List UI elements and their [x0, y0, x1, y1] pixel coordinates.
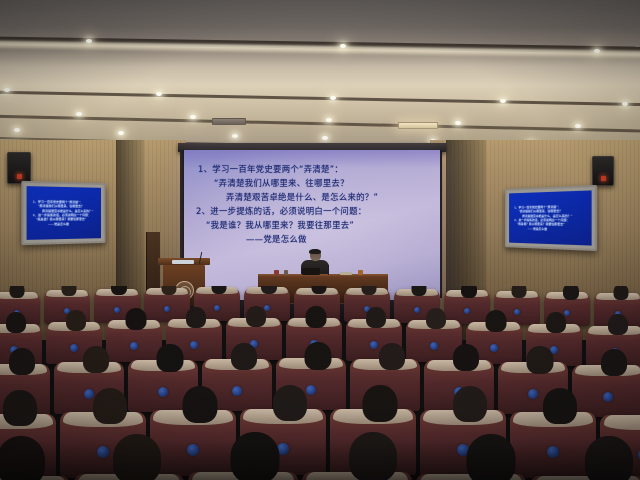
audience-member — [300, 342, 336, 382]
audience-member — [122, 308, 150, 338]
seat-emblem — [232, 386, 242, 396]
slide-line: “我是谁？我从哪里来？我要往那里去” — [184, 219, 440, 232]
audience-member — [536, 388, 584, 442]
ceiling — [0, 0, 640, 152]
audience-member — [62, 310, 90, 340]
seat-emblem — [70, 344, 78, 352]
seat-emblem — [490, 344, 498, 352]
ceiling-spotlight — [156, 92, 162, 96]
person-head — [3, 390, 37, 426]
speaker-led-indicator — [601, 176, 606, 181]
slide-line: 弄清楚艰苦卓绝是什么、是怎么来的？” — [184, 191, 440, 204]
slide-line: 2、进一步提炼的话，必须说明白一个问题： — [184, 205, 440, 218]
person-head — [6, 312, 26, 333]
ceiling-spotlight — [330, 96, 336, 100]
person-head — [601, 349, 627, 376]
person-head — [231, 432, 280, 480]
person-head — [66, 310, 86, 331]
seat-emblem — [187, 444, 199, 456]
ceiling-spotlight — [14, 128, 20, 132]
audience-member — [422, 308, 450, 338]
ceiling-spotlight — [232, 134, 238, 138]
person-head — [426, 308, 446, 329]
ceiling-spotlight — [322, 136, 328, 140]
person-head — [512, 286, 527, 298]
person-head — [231, 343, 257, 370]
seat-emblem — [430, 342, 438, 350]
audience-member — [266, 385, 314, 439]
audience-seating — [0, 286, 640, 480]
audience-member — [596, 349, 632, 389]
person-head — [186, 307, 206, 328]
audience-member — [208, 286, 230, 300]
ceiling-spotlight — [4, 88, 10, 92]
right-confidence-monitor[interactable]: 1、学习一百年党史要两个“弄清楚”： “弄清楚我们从哪里来、往哪里去？ 弄清楚艰… — [505, 185, 597, 251]
left-confidence-monitor[interactable]: 1、学习一百年党史要两个“弄清楚”： “弄清楚我们从哪里来、往哪里去？ 弄清楚艰… — [21, 181, 105, 245]
slide-content: 1、学习一百年党史要两个“弄清楚”： “弄清楚我们从哪里来、往哪里去？ 弄清楚艰… — [184, 163, 440, 246]
audience-member — [58, 286, 80, 302]
person-head — [363, 385, 398, 422]
person-head — [362, 286, 377, 295]
table-document — [340, 272, 352, 275]
audience-member — [508, 286, 530, 304]
audience-member — [340, 432, 406, 480]
audience-member — [356, 385, 404, 439]
ceiling-spotlight — [500, 99, 506, 103]
person-head — [379, 343, 405, 370]
speaker-led-indicator — [17, 174, 22, 179]
person-head — [546, 312, 566, 333]
audience-member — [358, 286, 380, 301]
audience-member — [104, 434, 170, 480]
person-head — [486, 310, 507, 332]
seat-emblem — [464, 308, 470, 314]
audience-member — [222, 432, 288, 480]
seat-emblem — [414, 307, 420, 313]
ceiling-spotlight — [190, 115, 196, 119]
left-monitor-screen: 1、学习一百年党史要两个“弄清楚”： “弄清楚我们从哪里来、往哪里去？ 弄清楚艰… — [27, 186, 101, 240]
person-head — [126, 308, 147, 330]
audience-member — [604, 314, 632, 344]
audience-member — [78, 346, 114, 386]
ceiling-spotlight — [594, 49, 600, 53]
ceiling-spotlight — [76, 112, 82, 116]
seat-emblem — [190, 341, 198, 349]
audience-member — [542, 312, 570, 342]
person-head — [10, 286, 25, 298]
person-head — [349, 432, 397, 480]
audience-member — [308, 286, 330, 300]
auditorium-scene: 1、学习一百年党史要两个“弄清楚”： “弄清楚我们从哪里来、往哪里去？ 弄清楚艰… — [0, 0, 640, 480]
ceiling-spotlight — [86, 39, 92, 43]
right-monitor-screen: 1、学习一百年党史要两个“弄清楚”： “弄清楚我们从哪里来、往哪里去？ 弄清楚艰… — [509, 190, 592, 245]
audience-member — [446, 386, 494, 440]
audience-member — [458, 434, 524, 480]
person-head — [312, 286, 327, 294]
person-head — [543, 388, 577, 424]
hvac-vent — [212, 118, 246, 125]
audience-member — [108, 286, 130, 300]
seat-emblem — [214, 305, 220, 311]
seat-emblem — [547, 446, 559, 458]
person-head — [183, 386, 218, 423]
person-head — [113, 434, 161, 480]
audience-member — [258, 286, 280, 299]
audience-member — [0, 436, 54, 480]
person-head — [62, 286, 77, 296]
person-head — [453, 344, 479, 371]
ceiling-band-3 — [0, 114, 640, 133]
person-head — [0, 436, 45, 480]
audience-member — [242, 306, 270, 336]
person-head — [461, 286, 477, 298]
person-head — [614, 286, 629, 300]
audience-member — [374, 343, 410, 383]
seat-emblem — [514, 309, 520, 315]
table-cup — [358, 270, 363, 275]
wall-speaker-right — [592, 156, 614, 186]
seat-emblem — [164, 306, 170, 312]
ceiling-spotlight — [326, 118, 332, 122]
audience-member — [302, 306, 330, 336]
person-head — [111, 286, 127, 295]
ceiling-spotlight — [455, 121, 461, 125]
seat-emblem — [114, 307, 120, 313]
audience-member — [610, 286, 632, 306]
monitor-slide-line: ——党是怎么做 — [31, 221, 98, 226]
audience-member — [6, 286, 28, 304]
audience-member — [2, 312, 30, 342]
person-head — [585, 436, 633, 480]
wall-speaker-left — [7, 152, 31, 184]
audience-member — [448, 344, 484, 384]
audience-member — [458, 286, 480, 303]
ceiling-spotlight — [575, 124, 581, 128]
person-head — [273, 385, 307, 421]
person-head — [157, 344, 184, 372]
ceiling-spotlight — [118, 131, 124, 135]
person-head — [453, 386, 487, 422]
audience-member — [152, 344, 188, 384]
slide-line: 1、学习一百年党史要两个“弄清楚”： — [184, 163, 440, 176]
table-cup — [274, 270, 279, 275]
slide-line: ——党是怎么做 — [184, 233, 440, 246]
audience-member — [560, 286, 582, 305]
ceiling-spotlight — [622, 102, 628, 106]
person-head — [93, 388, 127, 424]
seat-emblem — [130, 342, 138, 350]
ceiling-light-panel — [398, 122, 438, 129]
audience-member — [576, 436, 640, 480]
person-head — [162, 286, 177, 295]
seat-emblem — [603, 392, 613, 402]
audience-member — [158, 286, 180, 301]
person-head — [9, 348, 35, 375]
person-head — [261, 286, 277, 294]
audience-member — [522, 346, 558, 386]
table-mic — [328, 265, 329, 275]
person-head — [246, 306, 266, 327]
person-head — [527, 346, 554, 374]
slide-line: “弄清楚我们从哪里来、往哪里去？ — [184, 177, 440, 190]
ceiling-band-2 — [0, 90, 640, 107]
ceiling-spotlight — [340, 44, 346, 48]
person-head — [366, 307, 386, 328]
lectern-nameplate — [172, 260, 194, 264]
audience-member — [408, 286, 430, 302]
audience-member — [362, 307, 390, 337]
person-head — [412, 286, 427, 296]
audience-member — [482, 310, 510, 340]
person-head — [305, 342, 332, 370]
person-head — [83, 346, 109, 373]
audience-member — [226, 343, 262, 383]
person-head — [608, 314, 628, 335]
monitor-slide-line: ——党是怎么做 — [513, 226, 588, 231]
audience-member — [176, 386, 224, 440]
person-head — [563, 286, 579, 300]
audience-member — [4, 348, 40, 388]
speaker-hair — [309, 249, 321, 254]
table-laptop — [302, 268, 320, 275]
audience-member — [182, 307, 210, 337]
person-head — [306, 306, 327, 328]
seat-emblem — [158, 387, 168, 397]
person-head — [212, 286, 227, 294]
person-head — [467, 434, 516, 480]
table-cup — [284, 270, 288, 275]
